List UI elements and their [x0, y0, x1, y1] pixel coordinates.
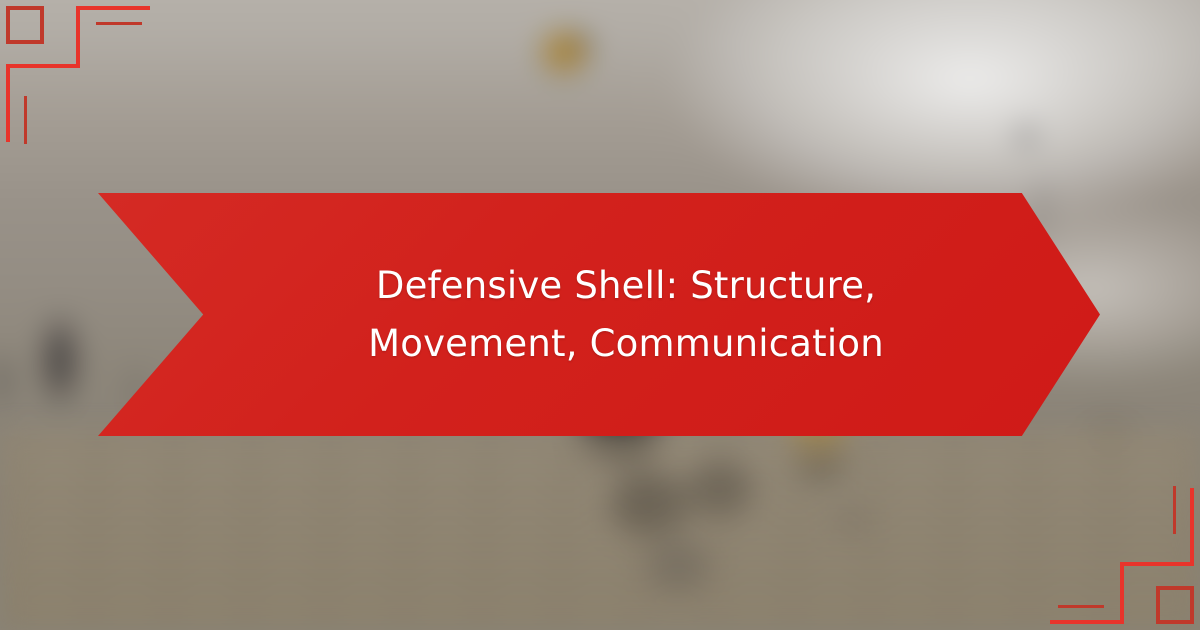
corner-line-horizontal-inner [96, 22, 142, 25]
corner-square-left-outer [1156, 586, 1160, 624]
corner-elbow-vertical-lower [6, 64, 10, 142]
corner-bracket-top-left [0, 0, 170, 170]
corner-elbow-vertical-outer [1120, 562, 1124, 624]
corner-elbow-horizontal-lower [6, 64, 80, 68]
corner-square-top-outer [1156, 586, 1194, 590]
corner-square-right-outer [1190, 586, 1194, 624]
title-ribbon: Defensive Shell: Structure, Movement, Co… [98, 193, 1100, 436]
corner-square-right-outer [40, 6, 44, 44]
corner-square-bottom-outer [6, 40, 44, 44]
corner-line-horizontal-inner [1058, 605, 1104, 608]
social-banner-card: Defensive Shell: Structure, Movement, Co… [0, 0, 1200, 630]
corner-square-left-outer [6, 6, 10, 44]
corner-line-vertical-inner [24, 96, 27, 144]
corner-bracket-bottom-right [1030, 460, 1200, 630]
corner-elbow-horizontal-outer [76, 6, 150, 10]
corner-elbow-horizontal-upper [1120, 562, 1194, 566]
corner-elbow-horizontal-outer [1050, 620, 1124, 624]
corner-square-top-outer [6, 6, 44, 10]
corner-square-bottom-outer [1156, 620, 1194, 624]
corner-elbow-vertical-upper [1190, 488, 1194, 566]
corner-line-vertical-inner [1173, 486, 1176, 534]
page-title: Defensive Shell: Structure, Movement, Co… [276, 257, 976, 372]
corner-elbow-vertical-outer [76, 6, 80, 68]
background-floor [0, 430, 1200, 630]
